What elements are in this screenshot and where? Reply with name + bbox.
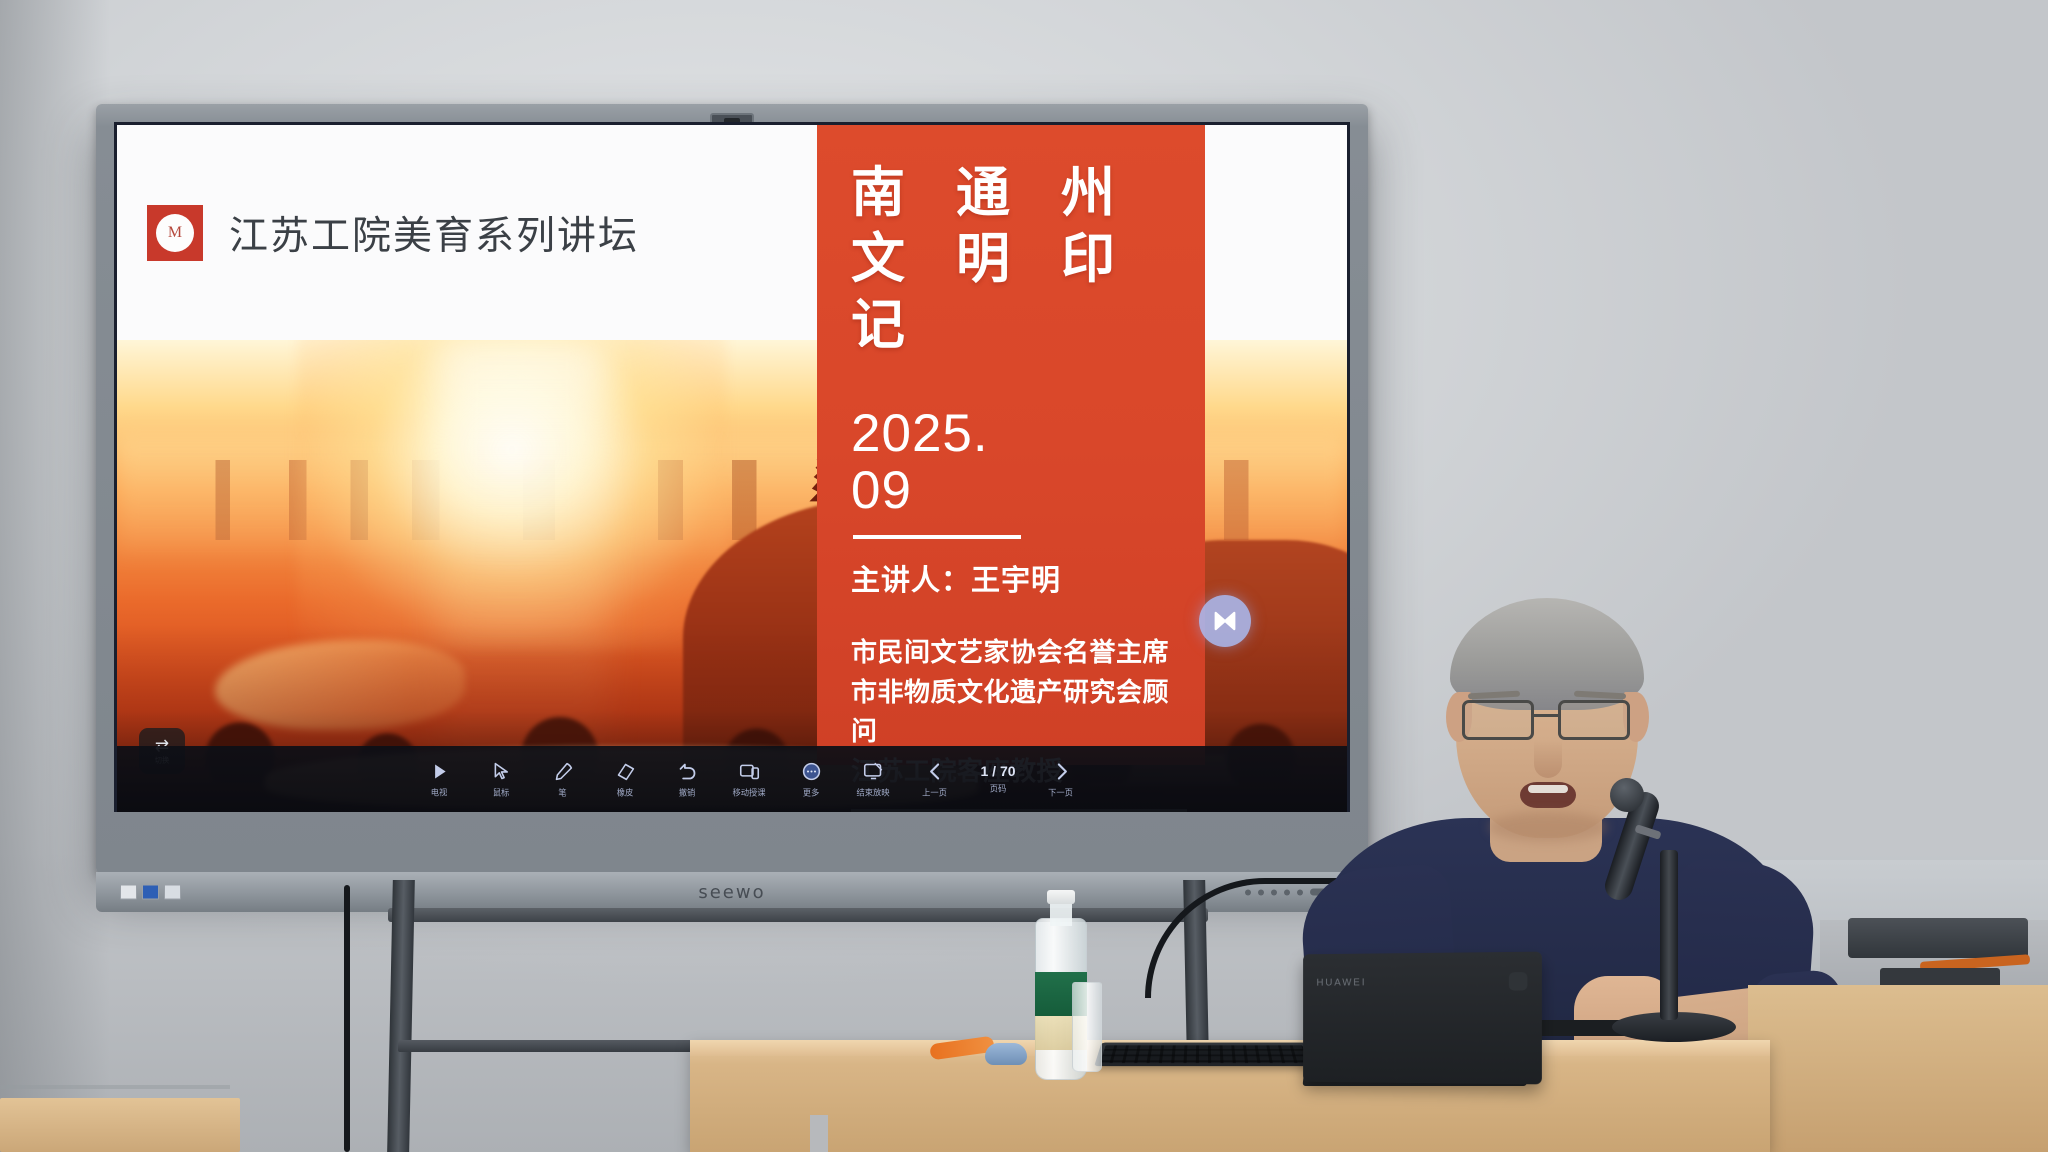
slide-date-month: 09 [851, 462, 1173, 519]
toolbar-label: 撤销 [679, 787, 696, 799]
computer-mouse[interactable] [985, 1043, 1027, 1065]
classroom-scene: M 江苏工院美育系列讲坛 [0, 0, 2048, 1152]
interactive-display[interactable]: M 江苏工院美育系列讲坛 [96, 104, 1368, 874]
sticker [142, 885, 159, 900]
end-show-icon [863, 759, 884, 783]
page-indicator[interactable]: 1 / 70 页码 [966, 763, 1030, 795]
toolbar-label: 结束放映 [856, 787, 889, 799]
display-bottom-bezel: seewo [96, 872, 1368, 912]
toolbar-item-tv[interactable]: 电视 [408, 759, 470, 799]
power-cable [344, 885, 350, 1152]
title-divider-top [853, 535, 1021, 539]
display-screen[interactable]: M 江苏工院美育系列讲坛 [114, 122, 1350, 812]
toolbar-item-more[interactable]: 更多 [780, 759, 842, 799]
toolbar-label: 笔 [559, 787, 567, 799]
presentation-slide: M 江苏工院美育系列讲坛 [117, 125, 1347, 812]
toolbar-item-undo[interactable]: 撤销 [656, 759, 718, 799]
chin-shadow [1488, 812, 1608, 842]
credential-line: 市民间文艺家协会名誉主席 [851, 633, 1173, 673]
slide-title-line-1: 南 通 州 [851, 161, 1173, 227]
toolbar-item-mouse[interactable]: 鼠标 [470, 759, 532, 799]
slide-date-year: 2025. [851, 405, 1173, 462]
sticker [164, 885, 181, 900]
display-brand-label: seewo [698, 882, 765, 903]
bottle-cap [1047, 890, 1075, 904]
sticker [120, 885, 137, 900]
video-app-watermark-icon [1199, 595, 1251, 647]
chevron-left-icon [925, 759, 946, 783]
foreground-table [0, 1098, 240, 1152]
slide-header-title: 江苏工院美育系列讲坛 [229, 205, 639, 261]
logo-letter: M [156, 214, 194, 252]
plastic-cup [1072, 982, 1102, 1072]
eyeglasses [1458, 700, 1636, 740]
toolbar-label: 上一页 [923, 787, 948, 799]
nose [1534, 740, 1562, 778]
desk-leg [810, 1115, 828, 1152]
page-number-text: 1 / 70 [980, 763, 1015, 779]
right-lens [1558, 700, 1630, 740]
presentation-toolbar[interactable]: 电视 鼠标 [117, 746, 1347, 812]
toolbar-item-eraser[interactable]: 橡皮 [594, 759, 656, 799]
tablet-camera-icon [1509, 972, 1528, 990]
toolbar-label: 移动授课 [732, 787, 765, 799]
bezel-stickers [120, 885, 181, 900]
slide-title-panel: 南 通 州 文 明 印 记 2025. 09 主讲人：王宇明 市民间文艺家协会名… [817, 125, 1205, 765]
play-icon [429, 759, 450, 783]
toolbar-next-page-button[interactable]: 下一页 [1030, 759, 1092, 799]
eraser-icon [615, 759, 636, 783]
pen-icon [553, 759, 574, 783]
keyboard[interactable] [1094, 1043, 1314, 1067]
credential-line: 市非物质文化遗产研究会顾问 [851, 673, 1173, 752]
toolbar-item-end-show[interactable]: 结束放映 [842, 759, 904, 799]
slide-title-line-2: 文 明 印 记 [851, 227, 1173, 359]
toolbar-item-mobile-teaching[interactable]: 移动授课 [718, 759, 780, 799]
chevron-right-icon [1051, 759, 1072, 783]
toolbar-label: 电视 [431, 787, 448, 799]
speaker-name: 主讲人：王宇明 [851, 557, 1173, 599]
page-indicator-label: 页码 [990, 783, 1007, 795]
cursor-icon [491, 759, 512, 783]
side-desk [1748, 985, 2048, 1152]
toolbar-label: 下一页 [1049, 787, 1074, 799]
background-equipment-box [1848, 918, 2028, 958]
glasses-bridge [1534, 714, 1560, 717]
microphone-stem [1660, 850, 1678, 1020]
toolbar-label: 更多 [803, 787, 820, 799]
undo-icon [677, 759, 698, 783]
more-icon [801, 759, 822, 783]
institution-logo: M [147, 205, 203, 261]
toolbar-prev-page-button[interactable]: 上一页 [904, 759, 966, 799]
tablet-device[interactable]: HUAWEI [1303, 952, 1542, 1085]
move-teach-icon [739, 759, 760, 783]
keyboard-keys [1100, 1045, 1308, 1063]
wall-seam [0, 1085, 230, 1089]
toolbar-label: 鼠标 [493, 787, 510, 799]
toolbar-item-pen[interactable]: 笔 [532, 759, 594, 799]
toolbar-label: 橡皮 [617, 787, 634, 799]
left-lens [1462, 700, 1534, 740]
tablet-brand-label: HUAWEI [1316, 977, 1366, 988]
mouth [1520, 782, 1576, 808]
